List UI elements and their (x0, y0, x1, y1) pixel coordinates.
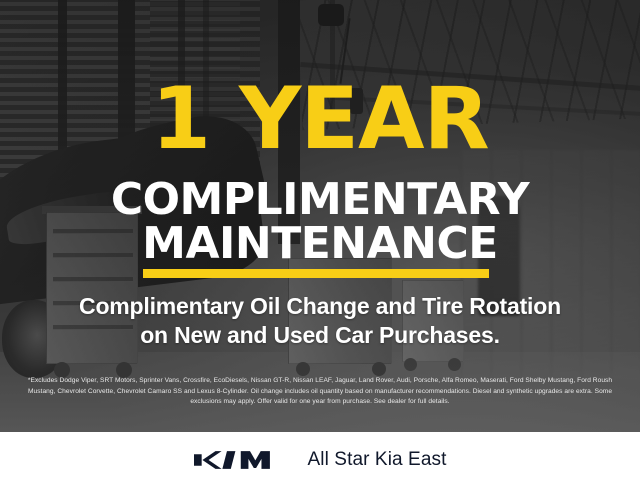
kia-logo (194, 448, 286, 472)
dealer-name: All Star Kia East (308, 449, 447, 471)
promo-banner: 1 YEAR COMPLIMENTARY MAINTENANCE Complim… (0, 0, 640, 432)
subheadline-maintenance: MAINTENANCE (0, 222, 640, 266)
dealer-footer-bar: All Star Kia East (0, 432, 640, 488)
disclaimer-fine-print: *Excludes Dodge Viper, SRT Motors, Sprin… (16, 376, 624, 408)
promo-description: Complimentary Oil Change and Tire Rotati… (0, 292, 640, 351)
headline-1-year: 1 YEAR (0, 80, 640, 159)
subheadline-complimentary: COMPLIMENTARY (0, 178, 640, 222)
promo-line-2: on New and Used Car Purchases. (0, 321, 640, 350)
yellow-divider-rule (143, 269, 489, 278)
promo-line-1: Complimentary Oil Change and Tire Rotati… (0, 292, 640, 321)
